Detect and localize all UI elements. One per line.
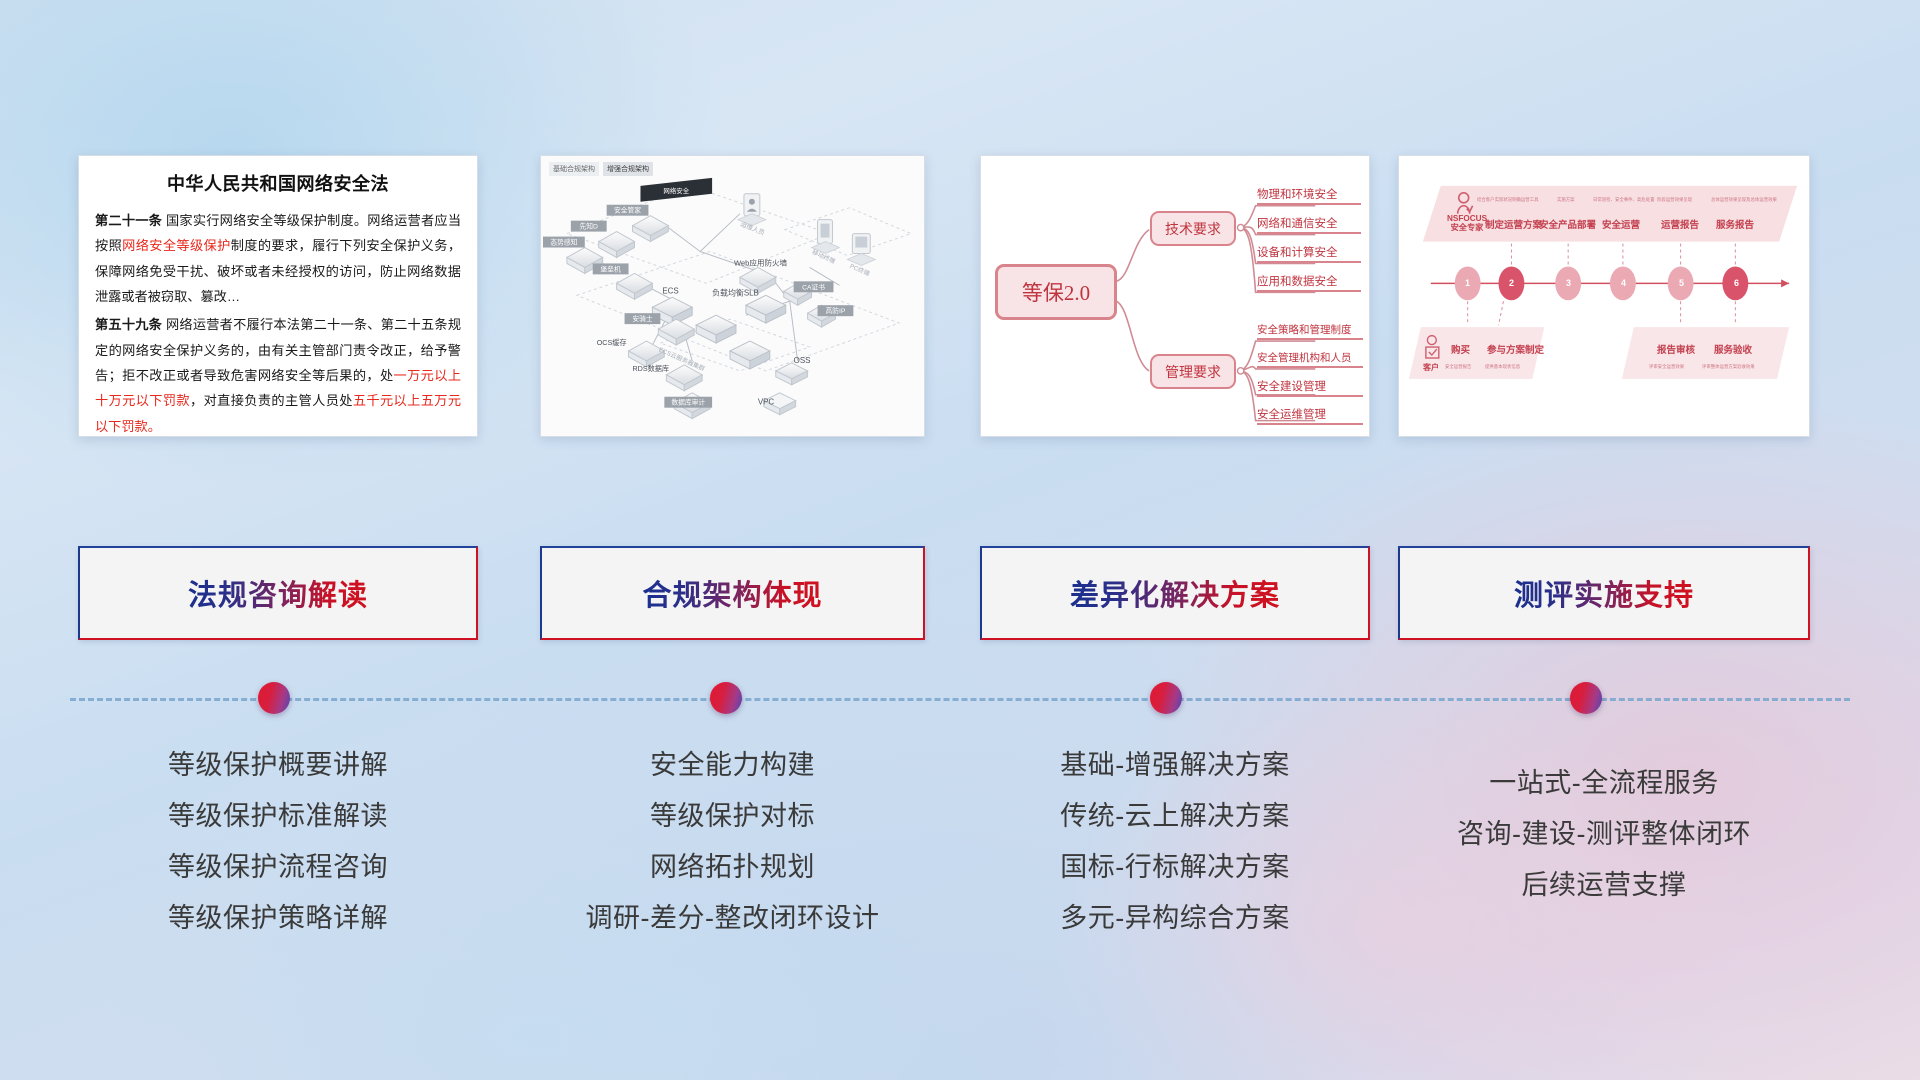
top-step-2-sub: 实施方案	[1557, 197, 1575, 203]
law-document: 中华人民共和国网络安全法 第二十一条 国家实行网络安全等级保护制度。网络运营者应…	[79, 156, 477, 437]
headline-label-2: 合规架构体现	[642, 572, 822, 614]
timeline-dot-2[interactable]	[710, 682, 742, 714]
mindmap-branch-technical[interactable]: 技术要求	[1150, 211, 1236, 246]
detail-list-row: 等级保护概要讲解 等级保护标准解读 等级保护流程咨询 等级保护策略详解 安全能力…	[0, 740, 1920, 1020]
bottom-step-4-sub: 评审整体运营方案验收效果	[1702, 364, 1755, 370]
svg-text:高防IP: 高防IP	[826, 306, 846, 315]
nsfocus-timeline: NSFOCUS 安全专家 客户 结合客户实际状况明确运营工具 制定运营方案 实施…	[1399, 156, 1809, 436]
article-21-label: 第二十一条	[95, 213, 162, 228]
timeline-dot-4[interactable]	[1570, 682, 1602, 714]
mindmap-leaf-mgmt-3: 安全建设管理	[1257, 378, 1363, 397]
list-item: 等级保护流程咨询	[78, 842, 478, 893]
mindmap-leaf-mgmt-4: 安全运维管理	[1257, 406, 1363, 425]
timeline-step-number-2: 2	[1509, 278, 1514, 288]
mindmap: 等保2.0 技术要求 管理要求 物理和环境安全 网络和通信安全 设备和计算安全 …	[981, 156, 1369, 436]
list-item: 等级保护对标	[540, 791, 925, 842]
list-item: 后续运营支撑	[1398, 860, 1810, 911]
bottom-step-2-sub: 提供基本现状信息	[1485, 364, 1520, 370]
architecture-canvas: 网络安全 安全管家 先知D 态势感知 堡垒机 ECS 安骑士 OCS缓存 RDS…	[541, 156, 924, 437]
bottom-step-4-title: 服务验收	[1714, 342, 1752, 356]
list-item: 多元-异构综合方案	[980, 893, 1370, 944]
svg-text:堡垒机: 堡垒机	[601, 264, 622, 273]
svg-text:数据库审计: 数据库审计	[671, 398, 705, 407]
article-21-highlight: 网络安全等级保护	[122, 238, 231, 253]
timeline-dot-1[interactable]	[258, 682, 290, 714]
bottom-step-2-title: 参与方案制定	[1487, 342, 1544, 356]
headline-box-regulation-consulting[interactable]: 法规咨询解读	[78, 546, 478, 640]
list-item: 调研-差分-整改闭环设计	[540, 893, 925, 944]
law-title: 中华人民共和国网络安全法	[95, 170, 461, 196]
headline-label-3: 差异化解决方案	[1070, 572, 1280, 614]
law-article-21: 第二十一条 国家实行网络安全等级保护制度。网络运营者应当按照网络安全等级保护制度…	[95, 208, 461, 309]
article-59-label: 第五十九条	[95, 317, 162, 332]
svg-text:ECS: ECS	[662, 286, 678, 295]
nsfocus-customer-role: 客户	[1423, 362, 1439, 373]
svg-text:负载均衡SLB: 负载均衡SLB	[712, 287, 759, 297]
timeline-step-number-6: 6	[1734, 278, 1739, 288]
law-article-59: 第五十九条 网络运营者不履行本法第二十一条、第二十五条规定的网络安全保护义务的，…	[95, 312, 461, 437]
timeline-step-number-1: 1	[1465, 278, 1470, 288]
detail-list-compliance-architecture: 安全能力构建 等级保护对标 网络拓扑规划 调研-差分-整改闭环设计	[540, 740, 925, 944]
top-step-1-sub: 结合客户实际状况明确运营工具	[1477, 197, 1538, 203]
headline-box-differentiated-solution[interactable]: 差异化解决方案	[980, 546, 1370, 640]
timeline-axis	[70, 697, 1850, 701]
mindmap-leaf-mgmt-2: 安全管理机构和人员	[1257, 350, 1363, 368]
list-item: 等级保护策略详解	[78, 893, 478, 944]
architecture-diagram: 基础合规架构 增强合规架构	[541, 156, 924, 436]
svg-text:VPC: VPC	[758, 398, 775, 407]
mindmap-leaf-mgmt-1: 安全策略和管理制度	[1257, 322, 1363, 340]
article-59-seg2: ，对直接负责的主管人员处	[190, 393, 353, 408]
list-item: 传统-云上解决方案	[980, 791, 1370, 842]
mindmap-leaf-tech-3: 设备和计算安全	[1257, 244, 1361, 263]
card-dengbao-mindmap[interactable]: 等保2.0 技术要求 管理要求 物理和环境安全 网络和通信安全 设备和计算安全 …	[980, 155, 1370, 437]
top-step-4-sub: 阶段运营效果呈现	[1657, 197, 1692, 203]
svg-text:RDS数据库: RDS数据库	[633, 364, 670, 373]
list-item: 等级保护标准解读	[78, 791, 478, 842]
top-step-5-sub: 总体运营效果呈现及总体运营效果	[1711, 197, 1777, 203]
svg-text:态势感知: 态势感知	[550, 238, 577, 247]
nsfocus-expert-role: NSFOCUS 安全专家	[1447, 214, 1487, 232]
top-step-3-sub: 日常巡检、安全事件、高危处置	[1593, 197, 1654, 203]
detail-list-assessment-support: 一站式-全流程服务 咨询-建设-测评整体闭环 后续运营支撑	[1398, 758, 1810, 911]
headline-row: 法规咨询解读 合规架构体现 差异化解决方案 测评实施支持	[0, 546, 1920, 646]
timeline-step-number-4: 4	[1621, 278, 1626, 288]
svg-text:先知D: 先知D	[580, 222, 599, 231]
list-item: 一站式-全流程服务	[1398, 758, 1810, 809]
top-step-4-title: 运营报告	[1661, 217, 1699, 231]
headline-label-1: 法规咨询解读	[188, 572, 368, 614]
headline-label-4: 测评实施支持	[1514, 572, 1694, 614]
timeline-step-number-3: 3	[1566, 278, 1571, 288]
bottom-step-3-sub: 评审安全运营效果	[1649, 364, 1684, 370]
list-item: 安全能力构建	[540, 740, 925, 791]
list-item: 网络拓扑规划	[540, 842, 925, 893]
list-item: 咨询-建设-测评整体闭环	[1398, 809, 1810, 860]
svg-text:安全管家: 安全管家	[614, 206, 641, 215]
detail-list-regulation-consulting: 等级保护概要讲解 等级保护标准解读 等级保护流程咨询 等级保护策略详解	[78, 740, 478, 944]
headline-box-compliance-architecture[interactable]: 合规架构体现	[540, 546, 925, 640]
card-compliance-architecture[interactable]: 基础合规架构 增强合规架构	[540, 155, 925, 437]
svg-text:OSS: OSS	[794, 356, 811, 365]
bottom-step-1-title: 购买	[1451, 342, 1470, 356]
svg-text:OCS缓存: OCS缓存	[597, 338, 627, 347]
architecture-badge-label: 网络安全	[663, 186, 689, 195]
card-nsfocus-timeline[interactable]: NSFOCUS 安全专家 客户 结合客户实际状况明确运营工具 制定运营方案 实施…	[1398, 155, 1810, 437]
card-cybersecurity-law[interactable]: 中华人民共和国网络安全法 第二十一条 国家实行网络安全等级保护制度。网络运营者应…	[78, 155, 478, 437]
image-card-row: 中华人民共和国网络安全法 第二十一条 国家实行网络安全等级保护制度。网络运营者应…	[0, 0, 1920, 470]
mindmap-leaf-tech-1: 物理和环境安全	[1257, 186, 1361, 205]
timeline-step-number-5: 5	[1679, 278, 1684, 288]
bottom-step-3-title: 报告审核	[1657, 342, 1695, 356]
mindmap-leaf-tech-4: 应用和数据安全	[1257, 273, 1361, 292]
mindmap-leaf-tech-2: 网络和通信安全	[1257, 215, 1361, 234]
headline-box-assessment-support[interactable]: 测评实施支持	[1398, 546, 1810, 640]
detail-list-differentiated-solution: 基础-增强解决方案 传统-云上解决方案 国标-行标解决方案 多元-异构综合方案	[980, 740, 1370, 944]
top-step-5-title: 服务报告	[1716, 217, 1754, 231]
mindmap-branch-management[interactable]: 管理要求	[1150, 354, 1236, 389]
top-step-3-title: 安全运营	[1602, 217, 1640, 231]
bottom-step-1-sub: 安全运营报告	[1445, 364, 1471, 370]
top-step-2-title: 安全产品部署	[1539, 217, 1596, 231]
top-step-1-title: 制定运营方案	[1485, 217, 1542, 231]
list-item: 基础-增强解决方案	[980, 740, 1370, 791]
svg-text:安骑士: 安骑士	[632, 314, 653, 323]
list-item: 国标-行标解决方案	[980, 842, 1370, 893]
list-item: 等级保护概要讲解	[78, 740, 478, 791]
svg-text:CA证书: CA证书	[802, 282, 825, 291]
mindmap-root-node[interactable]: 等保2.0	[995, 264, 1117, 320]
svg-text:Web应用防火墙: Web应用防火墙	[734, 257, 788, 267]
timeline-dot-3[interactable]	[1150, 682, 1182, 714]
